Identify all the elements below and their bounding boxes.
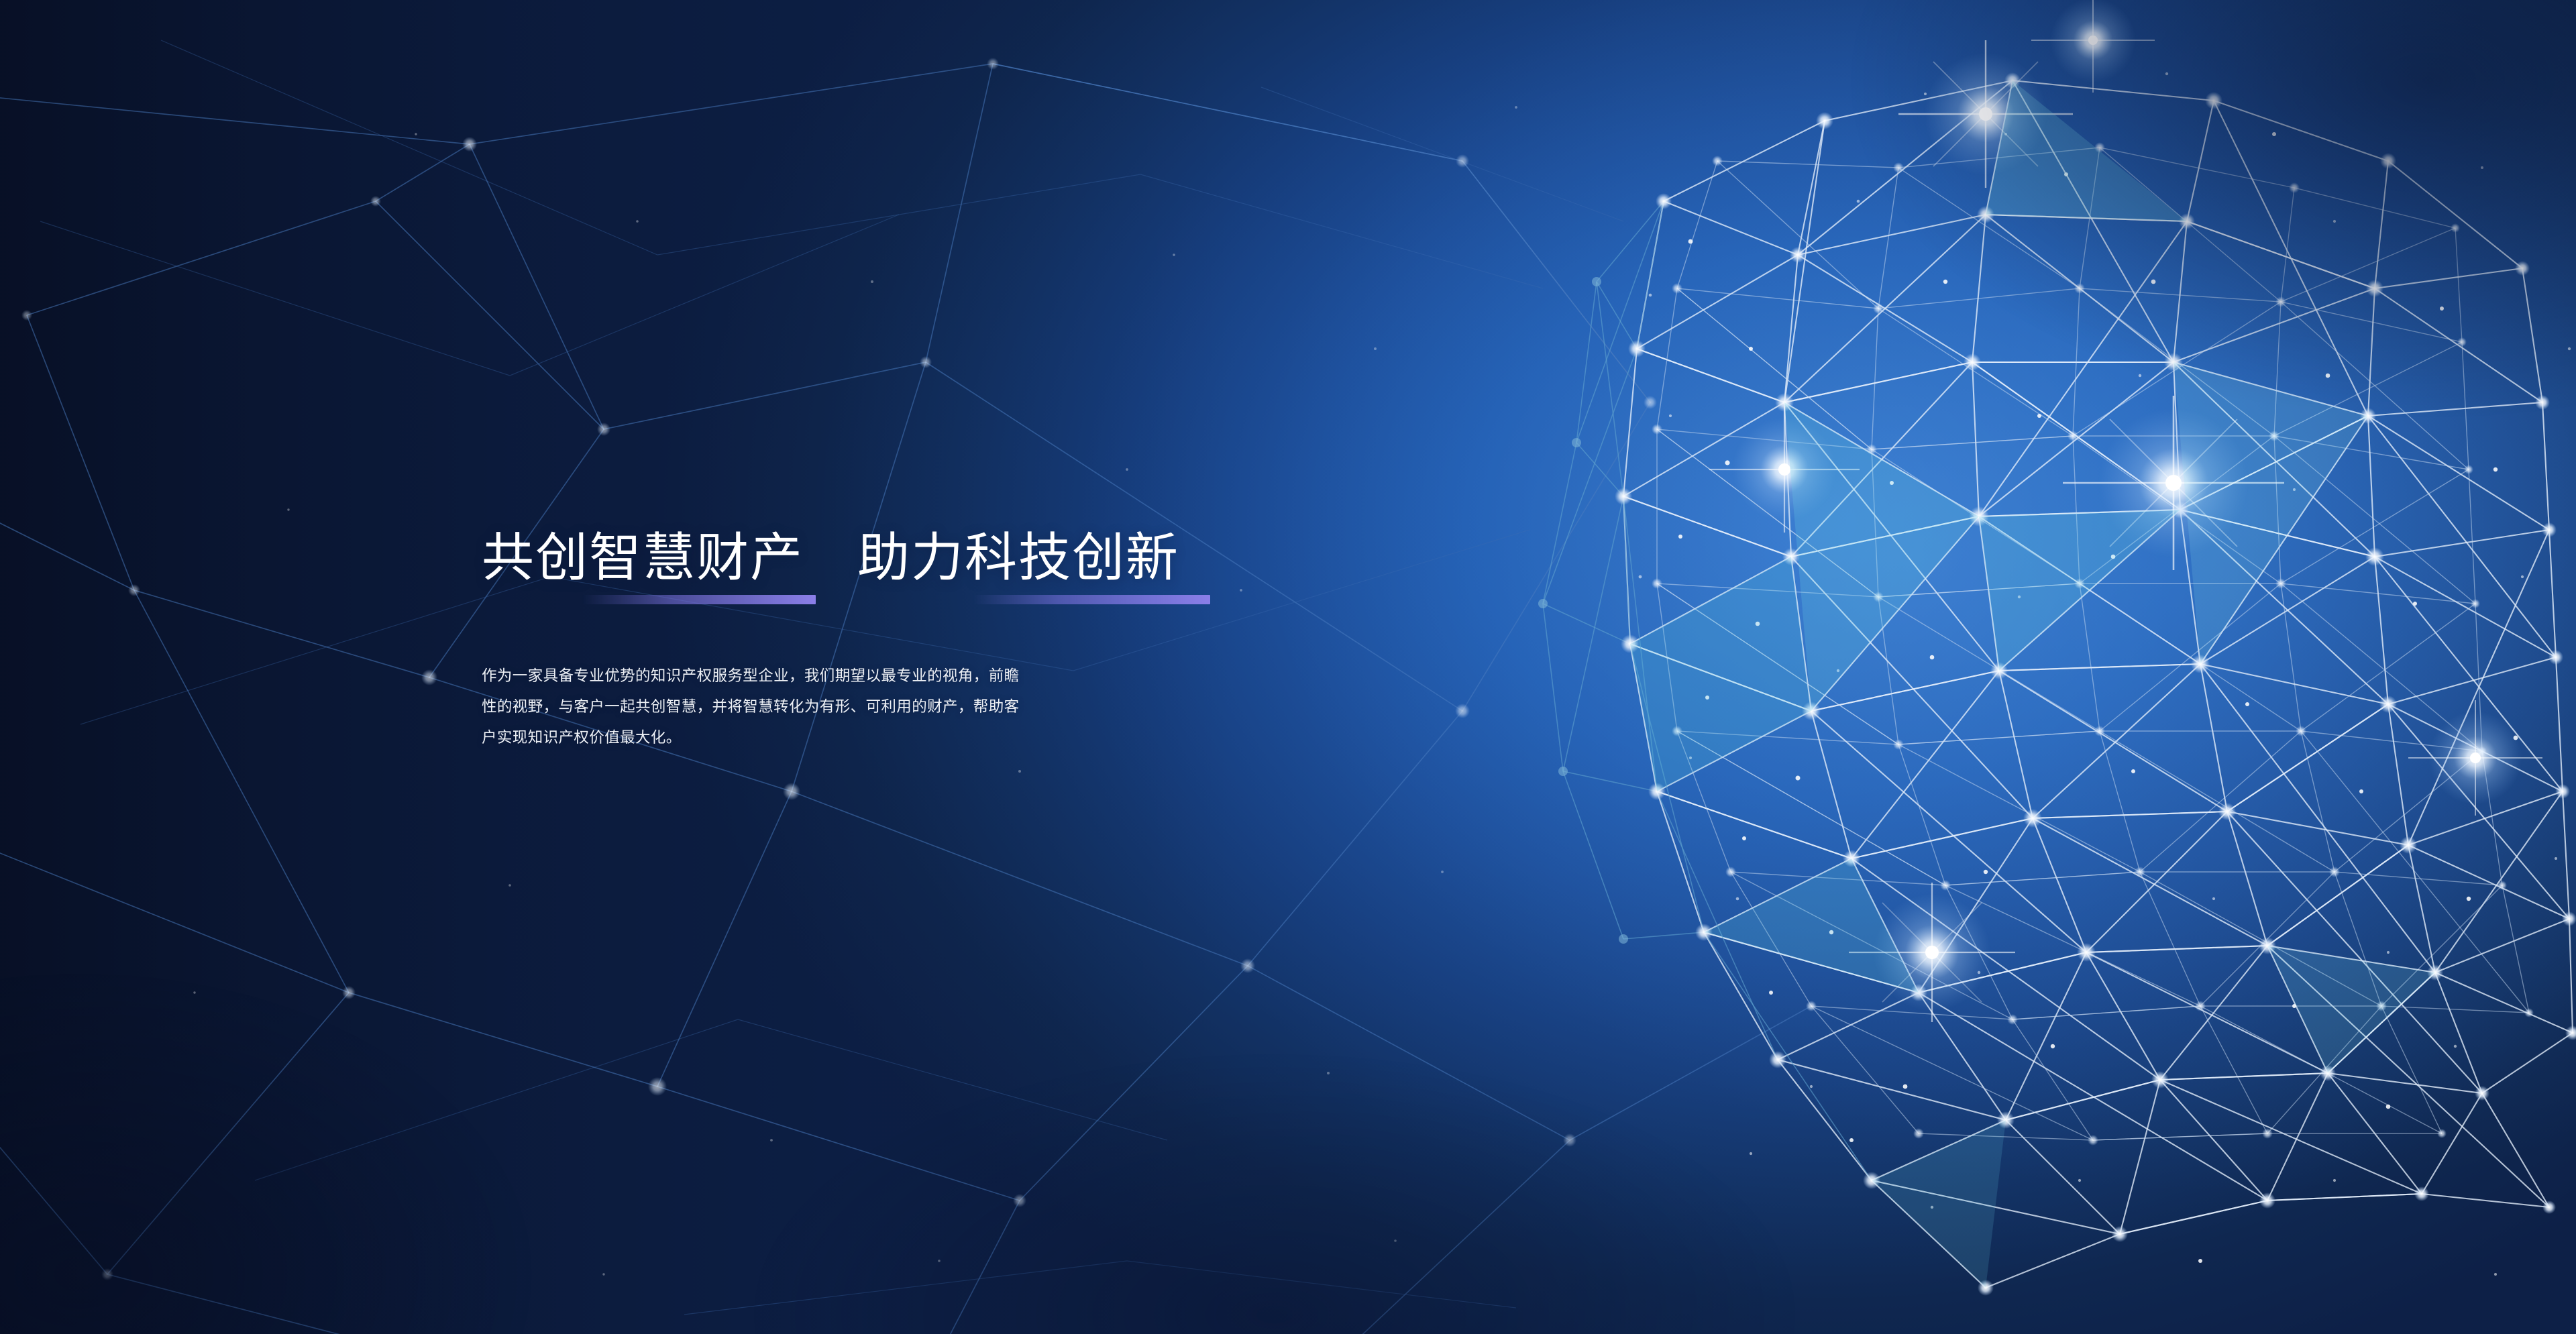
hero-headline: 共创智慧财产 助力科技创新 xyxy=(482,530,1474,586)
hero-description-line: 户实现知识产权价值最大化。 xyxy=(482,722,1421,753)
headline-phrase-2: 助力科技创新 xyxy=(857,530,1179,586)
hero-content: 共创智慧财产 助力科技创新 作为一家具备专业优势的知识产权服务型企业，我们期望以… xyxy=(482,530,1474,753)
headline-phrase-1-text: 共创智慧财产 xyxy=(482,530,804,586)
headline-phrase-2-text: 助力科技创新 xyxy=(857,530,1179,586)
hero-description-line: 性的视野，与客户一起共创智慧，并将智慧转化为有形、可利用的财产，帮助客 xyxy=(482,691,1421,722)
headline-underline-1 xyxy=(582,595,816,604)
hero-description-line: 作为一家具备专业优势的知识产权服务型企业，我们期望以最专业的视角，前瞻 xyxy=(482,661,1421,691)
headline-phrase-1: 共创智慧财产 xyxy=(482,530,804,586)
hero-banner: 共创智慧财产 助力科技创新 作为一家具备专业优势的知识产权服务型企业，我们期望以… xyxy=(0,0,2576,1334)
headline-underline-2 xyxy=(973,595,1210,604)
hero-description: 作为一家具备专业优势的知识产权服务型企业，我们期望以最专业的视角，前瞻 性的视野… xyxy=(482,661,1421,753)
